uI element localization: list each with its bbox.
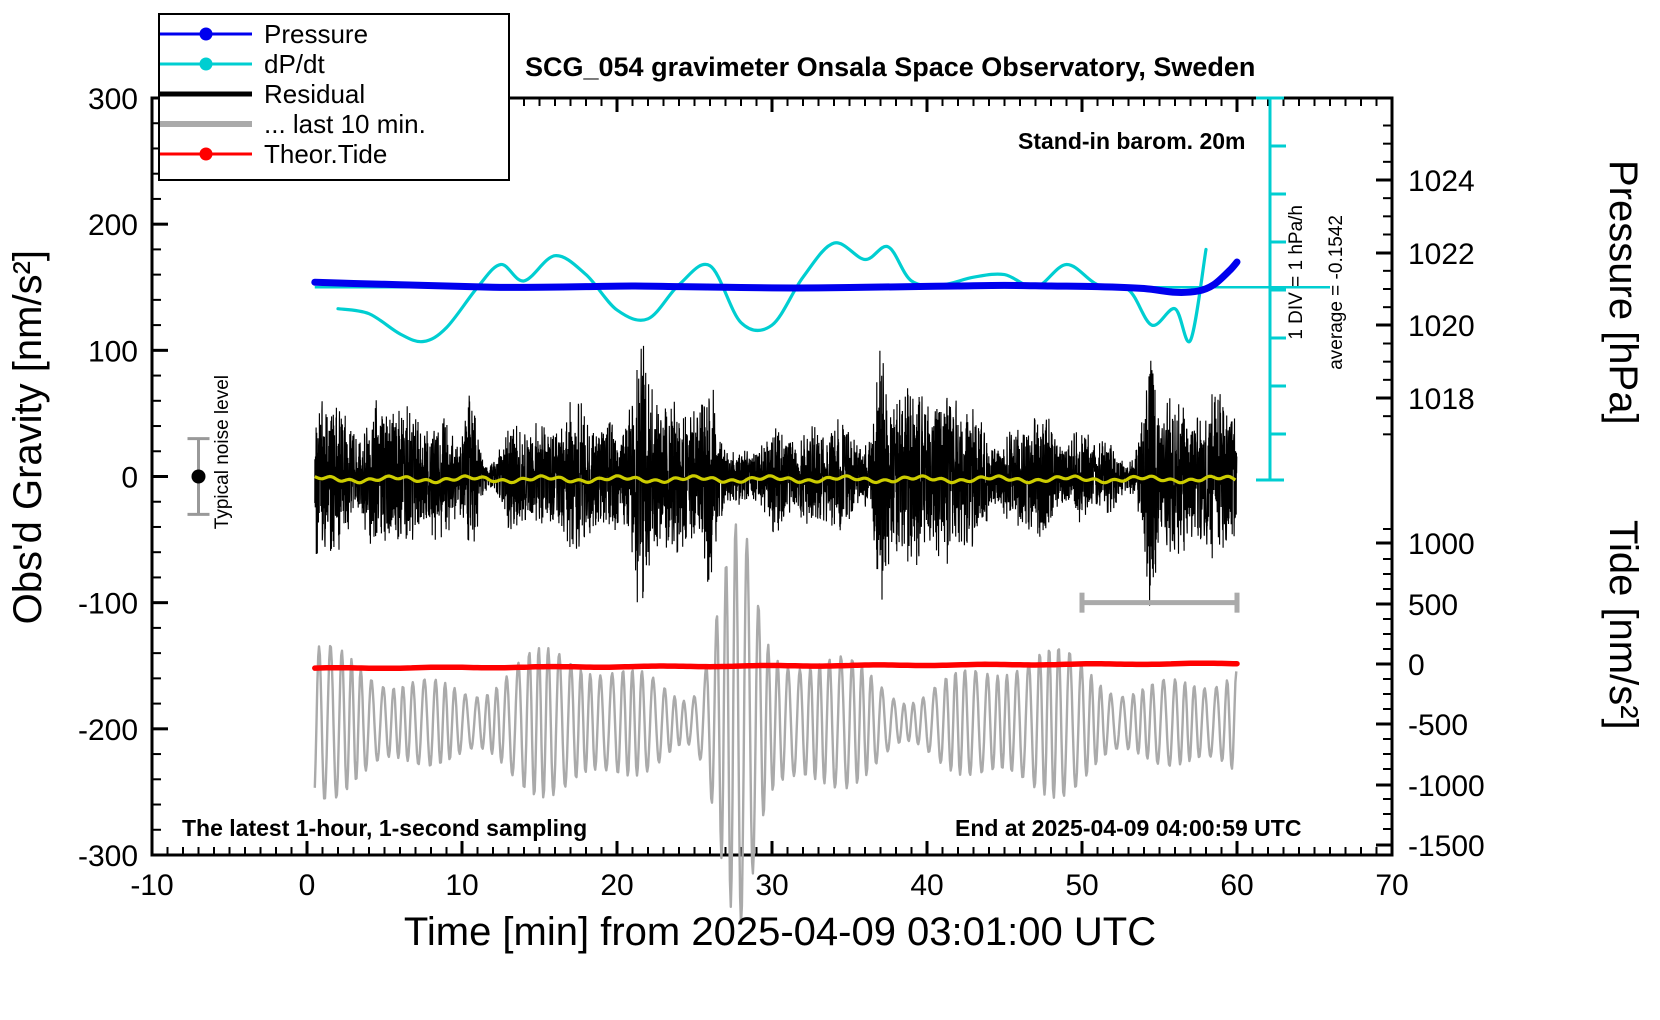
y-tick-label-left: 300 bbox=[88, 83, 138, 116]
legend-swatch-pressure bbox=[160, 21, 252, 47]
x-tick-label: 10 bbox=[445, 869, 478, 902]
legend-item[interactable]: ... last 10 min. bbox=[160, 109, 508, 139]
y-axis-pressure-title: Pressure [hPa] bbox=[1600, 160, 1645, 425]
y-tick-label-tide: -1500 bbox=[1408, 830, 1485, 863]
y-tick-label-left: -100 bbox=[78, 588, 138, 621]
series-last-10-min bbox=[315, 524, 1237, 923]
legend-label-tide: Theor.Tide bbox=[264, 139, 387, 170]
page-title: SCG_054 gravimeter Onsala Space Observat… bbox=[525, 52, 1255, 83]
x-tick-label: 40 bbox=[910, 869, 943, 902]
y-tick-label-tide: 500 bbox=[1408, 589, 1458, 622]
legend-label-pressure: Pressure bbox=[264, 19, 368, 50]
annotation-noise-level: Typical noise level bbox=[212, 375, 234, 529]
y-tick-label-left: 100 bbox=[88, 335, 138, 368]
y-tick-label-tide: -1000 bbox=[1408, 770, 1485, 803]
x-tick-label: -10 bbox=[130, 869, 173, 902]
annotation-end-time: End at 2025-04-09 04:00:59 UTC bbox=[955, 815, 1301, 842]
y-tick-label-pressure: 1024 bbox=[1408, 165, 1475, 198]
x-tick-label: 50 bbox=[1065, 869, 1098, 902]
annotation-sampling: The latest 1-hour, 1-second sampling bbox=[182, 815, 587, 842]
legend-swatch-tide bbox=[160, 141, 252, 167]
x-axis-title: Time [min] from 2025-04-09 03:01:00 UTC bbox=[0, 910, 1560, 955]
legend-item[interactable]: Pressure bbox=[160, 19, 508, 49]
annotation-average: average = -0.1542 bbox=[1326, 215, 1348, 370]
legend-label-residual: Residual bbox=[264, 79, 365, 110]
y-axis-tide-title: Tide [nm/s²] bbox=[1600, 520, 1645, 730]
y-tick-label-tide: 0 bbox=[1408, 649, 1425, 682]
y-tick-label-pressure: 1020 bbox=[1408, 310, 1475, 343]
x-tick-label: 0 bbox=[299, 869, 316, 902]
x-tick-label: 60 bbox=[1220, 869, 1253, 902]
y-tick-label-tide: 1000 bbox=[1408, 528, 1475, 561]
legend-swatch-last10 bbox=[160, 111, 252, 137]
legend-item[interactable]: Residual bbox=[160, 79, 508, 109]
legend-swatch-dpdt bbox=[160, 51, 252, 77]
legend-item[interactable]: Theor.Tide bbox=[160, 139, 508, 169]
series-theor-tide bbox=[315, 663, 1237, 668]
legend-swatch-residual bbox=[160, 81, 252, 107]
y-tick-label-tide: -500 bbox=[1408, 709, 1468, 742]
annotation-standin-barom: Stand-in barom. 20m bbox=[1018, 128, 1245, 155]
x-tick-label: 30 bbox=[755, 869, 788, 902]
legend-item[interactable]: dP/dt bbox=[160, 49, 508, 79]
annotation-div-scale: 1 DIV = 1 hPa/h bbox=[1286, 205, 1308, 340]
y-tick-label-left: -200 bbox=[78, 714, 138, 747]
legend-label-last10: ... last 10 min. bbox=[264, 109, 426, 140]
y-axis-left-title: Obs'd Gravity [nm/s²] bbox=[6, 250, 51, 624]
series-pressure bbox=[315, 262, 1237, 292]
noise-bar-point bbox=[192, 470, 206, 484]
x-tick-label: 70 bbox=[1375, 869, 1408, 902]
gravimeter-plot-page: -10010203040506070-300-200-1000100200300… bbox=[0, 0, 1660, 1020]
legend: Pressure dP/dt Residual ... last 10 min. bbox=[158, 13, 510, 181]
x-tick-label: 20 bbox=[600, 869, 633, 902]
y-tick-label-left: 0 bbox=[121, 462, 138, 495]
legend-label-dpdt: dP/dt bbox=[264, 49, 325, 80]
series-residual bbox=[315, 346, 1237, 606]
y-tick-label-pressure: 1022 bbox=[1408, 238, 1475, 271]
y-tick-label-left: 200 bbox=[88, 209, 138, 242]
series-dpdt bbox=[338, 243, 1206, 342]
y-tick-label-left: -300 bbox=[78, 840, 138, 873]
y-tick-label-pressure: 1018 bbox=[1408, 383, 1475, 416]
